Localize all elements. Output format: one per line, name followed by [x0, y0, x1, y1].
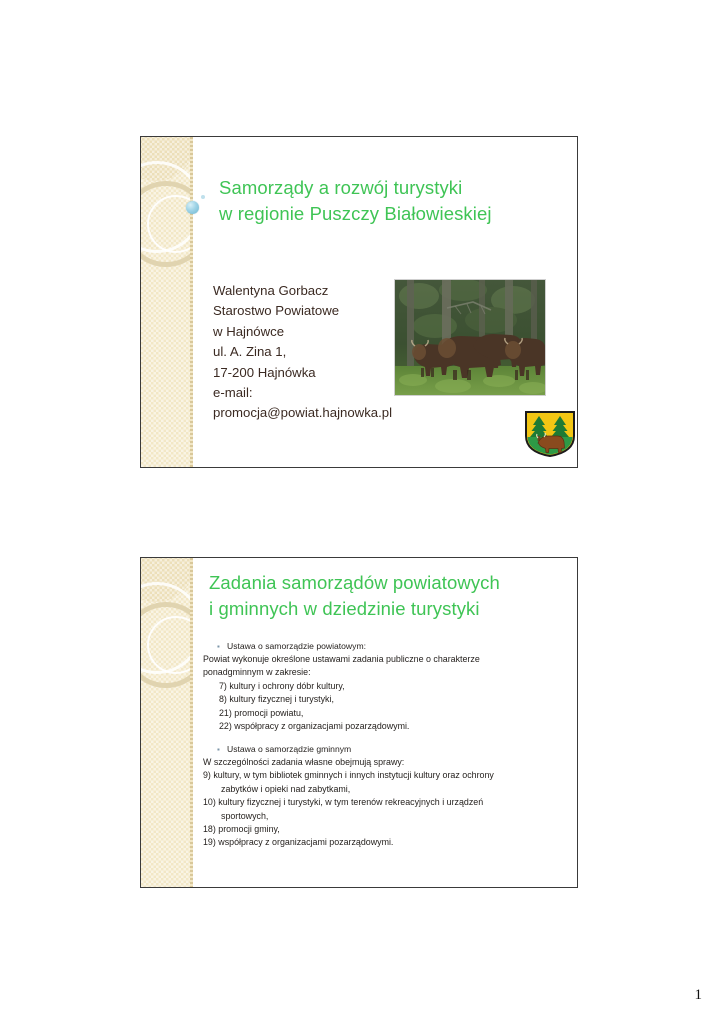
slide-title: Zadania samorządów powiatowych i gminnyc…: [209, 570, 567, 622]
slide-tasks-slide: Zadania samorządów powiatowych i gminnyc…: [140, 557, 578, 888]
section-powiat: ▪ Ustawa o samorządzie powiatowym: Powia…: [203, 640, 567, 733]
bullet-marker-icon: ▪: [217, 640, 227, 653]
section-heading: Ustawa o samorządzie powiatowym:: [227, 640, 366, 653]
blue-sphere-accent-icon: [186, 201, 199, 214]
hajnowka-coat-of-arms: [522, 410, 578, 458]
section-heading-row: ▪ Ustawa o samorządzie powiatowym:: [217, 640, 567, 653]
list-item: 21) promocji powiatu,: [203, 707, 567, 720]
band-wedge-shape: [141, 558, 193, 602]
list-item: 19) współpracy z organizacjami pozarządo…: [203, 836, 567, 849]
list-item: 22) współpracy z organizacjami pozarządo…: [203, 720, 567, 733]
list-item: 10) kultury fizycznej i turystyki, w tym…: [203, 796, 567, 823]
bullet-marker-icon: ▪: [217, 743, 227, 756]
band-circle-middle-icon: [141, 602, 193, 688]
slide-title-slide: Samorządy a rozwój turystyki w regionie …: [140, 136, 578, 468]
section-gmina: ▪ Ustawa o samorządzie gminnym W szczegó…: [203, 743, 567, 850]
list-item: 18) promocji gminy,: [203, 823, 567, 836]
bison-herd-photo: [394, 279, 546, 396]
decorative-side-band: [141, 558, 193, 887]
decorative-side-band: [141, 137, 193, 467]
list-item: 7) kultury i ochrony dóbr kultury,: [203, 680, 567, 693]
section-heading: Ustawa o samorządzie gminnym: [227, 743, 351, 756]
list-item: 9) kultury, w tym bibliotek gminnych i i…: [203, 769, 567, 796]
band-wedge-shape: [141, 137, 193, 181]
page-number: 1: [695, 987, 703, 1004]
blue-sphere-small-dot-icon: [201, 195, 205, 199]
section-intro: Powiat wykonuje określone ustawami zadan…: [203, 653, 567, 680]
slide-title: Samorządy a rozwój turystyki w regionie …: [219, 175, 567, 227]
section-heading-row: ▪ Ustawa o samorządzie gminnym: [217, 743, 567, 756]
list-item: 8) kultury fizycznej i turystyki,: [203, 693, 567, 706]
band-circle-inner-icon: [147, 616, 193, 674]
section-intro: W szczególności zadania własne obejmują …: [203, 756, 567, 769]
band-circle-middle-icon: [141, 181, 193, 267]
